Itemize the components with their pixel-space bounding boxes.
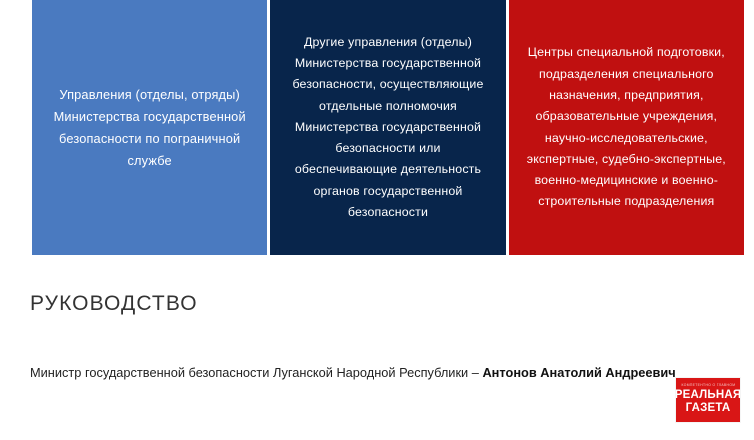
panels-right-margin	[744, 0, 754, 255]
panels-left-margin	[0, 0, 32, 255]
leadership-person-name: Антонов Анатолий Андреевич	[482, 365, 675, 380]
panel-border-service-departments: Управления (отделы, отряды) Министерства…	[32, 0, 267, 255]
leadership-dash: –	[472, 365, 479, 380]
panel-text-special-training-centers: Центры специальной подготовки, подраздел…	[527, 42, 726, 213]
source-logo-badge[interactable]: КОМПЕТЕНТНО О ГЛАВНОМ РЕАЛЬНАЯ ГАЗЕТА	[676, 378, 740, 422]
page-title: РУКОВОДСТВО	[30, 292, 198, 316]
panel-special-training-centers: Центры специальной подготовки, подраздел…	[509, 0, 744, 255]
structure-panels-row: Управления (отделы, отряды) Министерства…	[0, 0, 754, 255]
leadership-role: Министр государственной безопасности Луг…	[30, 365, 468, 380]
page-root: Управления (отделы, отряды) Министерства…	[0, 0, 754, 440]
badge-title-line-2: ГАЗЕТА	[686, 403, 731, 415]
panel-other-departments: Другие управления (отделы) Министерства …	[270, 0, 505, 255]
panel-text-other-departments: Другие управления (отделы) Министерства …	[292, 32, 483, 224]
badge-title-line-1: РЕАЛЬНАЯ	[676, 390, 740, 402]
badge-tagline: КОМПЕТЕНТНО О ГЛАВНОМ	[681, 384, 735, 387]
leadership-section: РУКОВОДСТВО Министр государственной безо…	[0, 255, 754, 440]
leadership-entry: Министр государственной безопасности Луг…	[30, 364, 730, 383]
panel-text-border-service-departments: Управления (отделы, отряды) Министерства…	[54, 84, 246, 172]
